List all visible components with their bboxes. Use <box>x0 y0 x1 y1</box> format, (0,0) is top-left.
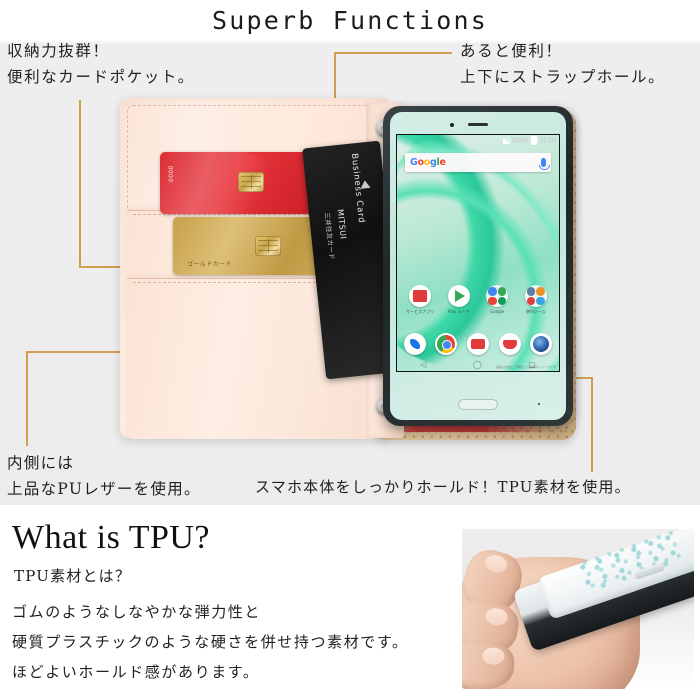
google-folder-icon[interactable] <box>486 285 508 307</box>
app-label: Google <box>482 309 512 314</box>
front-camera-icon <box>450 123 454 127</box>
home-button[interactable] <box>458 399 498 410</box>
app-service[interactable]: サービスアプリ <box>405 285 435 315</box>
business-card-brand: MITSUI <box>336 209 348 240</box>
service-app-icon[interactable] <box>409 285 431 307</box>
app-row: サービスアプリ Play ストア <box>401 285 555 315</box>
connector-strap-horizontal <box>334 52 452 54</box>
callout-inner-leather: 内側には 上品なPUレザーを使用。 <box>7 450 201 502</box>
tpu-body-line1: ゴムのようなしなやかな弾力性と <box>12 597 409 627</box>
callout-inner-leather-line1: 内側には <box>7 450 201 476</box>
home-icon[interactable]: ◯ <box>473 360 482 369</box>
features-section: Superb Functions 収納力抜群！ 便利なカードポケット。 あると便… <box>0 0 700 505</box>
product-photo: 0000 RAKUTEN ゴールドカード 0000 Business Card … <box>118 92 578 444</box>
mail-icon[interactable] <box>499 333 521 355</box>
screen-watermark: 画面は当社にて撮影した画像のイメージです <box>496 365 556 369</box>
callout-tpu-hold: スマホ本体をしっかりホールド！TPU素材を使用。 <box>255 476 631 497</box>
tpu-body-text: ゴムのようなしなやかな弾力性と 硬質プラスチックのような硬さを併せ持つ素材です。… <box>12 597 409 687</box>
signal-icon <box>503 138 510 144</box>
back-icon[interactable]: ◁ <box>420 360 426 369</box>
app-label: サービスアプリ <box>405 309 435 315</box>
connector-tpu-vertical <box>591 377 593 472</box>
tools-folder-icon[interactable] <box>525 285 547 307</box>
status-time: 12:34 <box>539 137 556 144</box>
play-store-icon[interactable] <box>448 285 470 307</box>
phone-screen: 100% 12:34 Google <box>396 134 560 372</box>
callout-strap-hole-line1: あると便利！ <box>460 38 665 64</box>
dock <box>399 333 557 355</box>
battery-icon <box>531 136 537 145</box>
callout-card-pocket: 収納力抜群！ 便利なカードポケット。 <box>7 38 195 90</box>
callout-card-pocket-line2: 便利なカードポケット。 <box>7 64 195 90</box>
earpiece-icon <box>468 123 488 126</box>
message-icon[interactable] <box>467 333 489 355</box>
phone-icon[interactable] <box>404 333 426 355</box>
callout-strap-hole-line2: 上下にストラップホール。 <box>460 64 665 90</box>
microphone-icon[interactable] <box>541 158 546 167</box>
card-chip-icon <box>255 236 281 256</box>
tpu-body-line2: 硬質プラスチックのような硬さを併せ持つ素材です。 <box>12 627 409 657</box>
chrome-icon[interactable] <box>435 333 457 355</box>
app-play-store[interactable]: Play ストア <box>444 285 474 315</box>
app-label: 便利ツール <box>521 309 551 315</box>
app-tools-folder[interactable]: 便利ツール <box>521 285 551 315</box>
camera-icon[interactable] <box>530 333 552 355</box>
smartphone: 100% 12:34 Google <box>383 106 573 426</box>
tpu-body-line3: ほどよいホールド感があります。 <box>12 657 409 687</box>
app-label: Play ストア <box>444 309 474 315</box>
tpu-heading: What is TPU? <box>12 519 210 557</box>
business-card-sub: 三井住友カード <box>323 212 338 260</box>
callout-strap-hole: あると便利！ 上下にストラップホール。 <box>460 38 665 90</box>
connector-inner-vertical <box>26 351 28 446</box>
phone-body: 100% 12:34 Google <box>390 112 566 420</box>
google-search-bar[interactable]: Google <box>405 153 551 172</box>
page-title: Superb Functions <box>0 6 700 35</box>
google-logo: Google <box>410 157 446 168</box>
app-google-folder[interactable]: Google <box>482 285 512 314</box>
card-side-text: ゴールドカード <box>187 259 232 268</box>
callout-card-pocket-line1: 収納力抜群！ <box>7 38 195 64</box>
tpu-flex-photo <box>462 529 694 689</box>
tpu-explainer-section: What is TPU? TPU素材とは？ ゴムのようなしなやかな弾力性と 硬質… <box>0 505 700 700</box>
status-bar: 100% 12:34 <box>397 135 559 146</box>
callout-inner-leather-line2: 上品なPUレザーを使用。 <box>7 476 201 502</box>
product-infographic: Superb Functions 収納力抜群！ 便利なカードポケット。 あると便… <box>0 0 700 700</box>
card-chip-icon <box>238 172 264 192</box>
tpu-subheading: TPU素材とは？ <box>14 565 131 586</box>
connector-pocket-vertical <box>79 100 81 266</box>
sensor-icon <box>538 403 540 405</box>
card-number-text: 0000 <box>168 165 175 182</box>
battery-percent: 100% <box>512 137 529 144</box>
